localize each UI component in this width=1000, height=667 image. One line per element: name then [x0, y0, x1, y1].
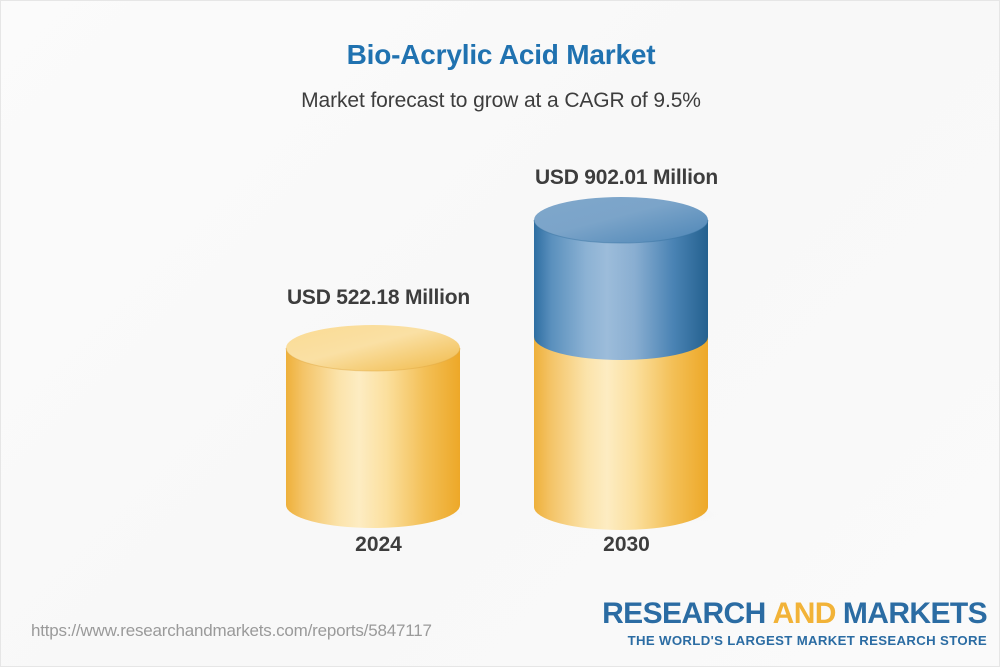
- logo-word-markets: MARKETS: [843, 597, 987, 630]
- logo-word-research: RESEARCH: [602, 597, 766, 630]
- plot-area: USD 522.18 Million: [1, 1, 1000, 601]
- chart-canvas: Bio-Acrylic Acid Market Market forecast …: [0, 0, 1000, 667]
- bar-group-2030: USD 902.01 Million: [509, 161, 744, 561]
- cylinder-2024[interactable]: [283, 325, 475, 525]
- bar-group-2024: USD 522.18 Million: [261, 281, 496, 561]
- logo-tagline: THE WORLD'S LARGEST MARKET RESEARCH STOR…: [602, 634, 987, 647]
- cylinder-body-2024: [286, 348, 460, 528]
- cylinder-2030[interactable]: [531, 197, 723, 527]
- bar-category-label-2030: 2030: [509, 533, 744, 557]
- logo-word-and: AND: [773, 597, 836, 630]
- logo-wordmark: RESEARCHANDMARKETS: [602, 599, 987, 629]
- bar-category-label-2024: 2024: [261, 533, 496, 557]
- report-url[interactable]: https://www.researchandmarkets.com/repor…: [31, 621, 432, 641]
- research-and-markets-logo[interactable]: RESEARCHANDMARKETS THE WORLD'S LARGEST M…: [602, 599, 987, 647]
- bar-value-label-2024: USD 522.18 Million: [261, 286, 496, 310]
- bar-value-label-2030: USD 902.01 Million: [509, 166, 744, 190]
